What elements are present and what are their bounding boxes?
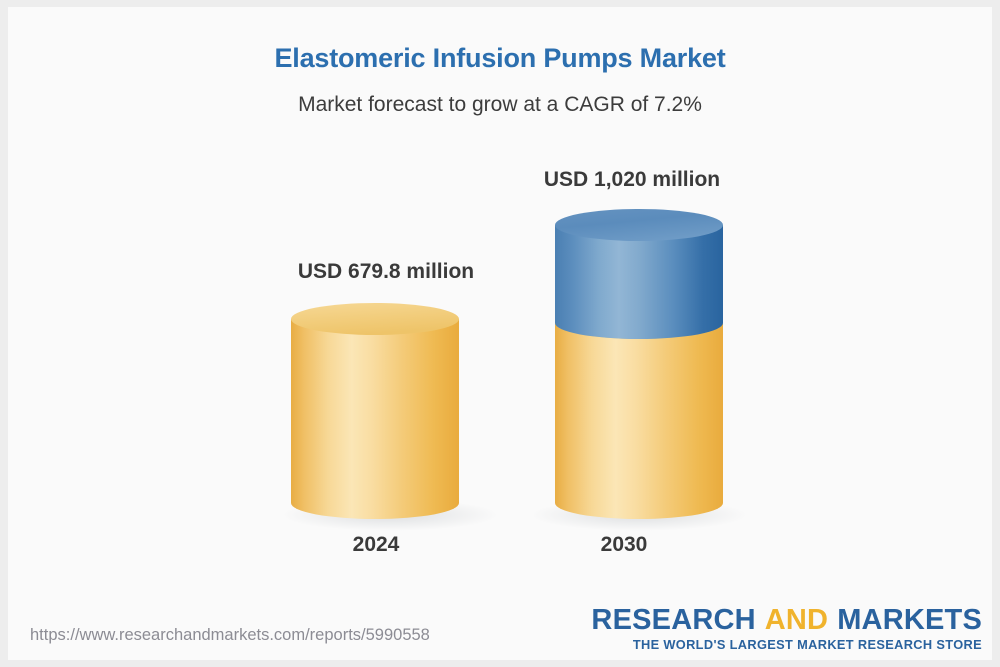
research-and-markets-logo[interactable]: RESEARCHANDMARKETS THE WORLD'S LARGEST M…: [591, 605, 982, 652]
image-frame: Elastomeric Infusion Pumps Market Market…: [0, 0, 1000, 667]
bar-2024-top-cap: [291, 303, 459, 335]
bar-2030-top-cap: [555, 209, 723, 241]
bar-2024[interactable]: [291, 303, 459, 519]
chart-canvas: Elastomeric Infusion Pumps Market Market…: [8, 7, 992, 660]
bar-2024-body: [291, 319, 459, 519]
logo-research-text: RESEARCH: [591, 604, 755, 636]
logo-markets-text: MARKETS: [837, 604, 982, 636]
category-label-2030: 2030: [424, 533, 824, 557]
logo-and-text: AND: [765, 604, 828, 636]
bar-2030-base-body: [555, 323, 723, 519]
cylinder-bar-plot: [8, 7, 992, 660]
data-label-2024: USD 679.8 million: [186, 260, 586, 284]
logo-tagline: THE WORLD'S LARGEST MARKET RESEARCH STOR…: [591, 637, 982, 652]
data-label-2030: USD 1,020 million: [432, 168, 832, 192]
bar-2030[interactable]: [555, 209, 723, 519]
logo-wordmark: RESEARCHANDMARKETS: [591, 605, 982, 635]
report-url[interactable]: https://www.researchandmarkets.com/repor…: [30, 626, 430, 645]
